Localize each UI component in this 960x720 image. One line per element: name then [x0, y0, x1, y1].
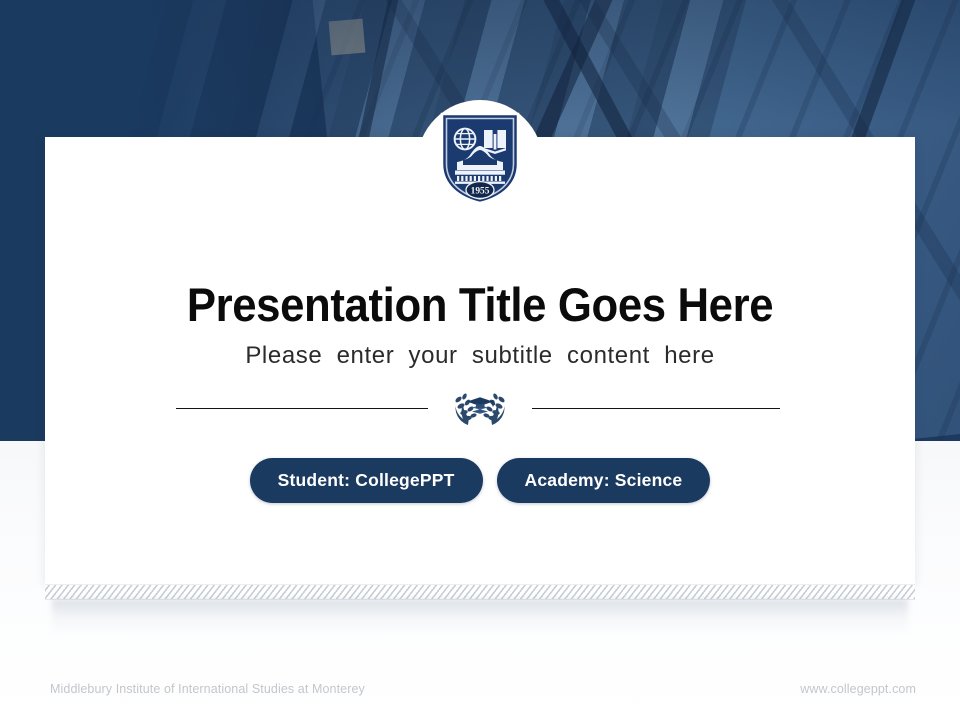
university-crest-icon: 1955	[438, 110, 522, 206]
meta-pill-group: Student: CollegePPT Academy: Science	[0, 458, 960, 503]
crest-year-text: 1955	[471, 186, 490, 196]
presentation-slide: 1955 Presentation Title Goes Here Please…	[0, 0, 960, 720]
card-hatched-strip	[45, 584, 915, 600]
divider-rule-left	[176, 408, 428, 409]
page-title: Presentation Title Goes Here	[34, 275, 927, 335]
graduation-cap-laurel-icon	[452, 385, 508, 431]
divider-rule-right	[532, 408, 780, 409]
academy-pill-button[interactable]: Academy: Science	[497, 458, 711, 503]
divider	[0, 393, 960, 439]
student-pill-button[interactable]: Student: CollegePPT	[250, 458, 483, 503]
crest-year-badge: 1955	[466, 182, 494, 199]
footer-website: www.collegeppt.com	[800, 682, 916, 696]
footer-institution-name: Middlebury Institute of International St…	[50, 682, 365, 696]
page-subtitle: Please enter your subtitle content here	[0, 340, 960, 372]
card-drop-shadow	[52, 599, 908, 633]
